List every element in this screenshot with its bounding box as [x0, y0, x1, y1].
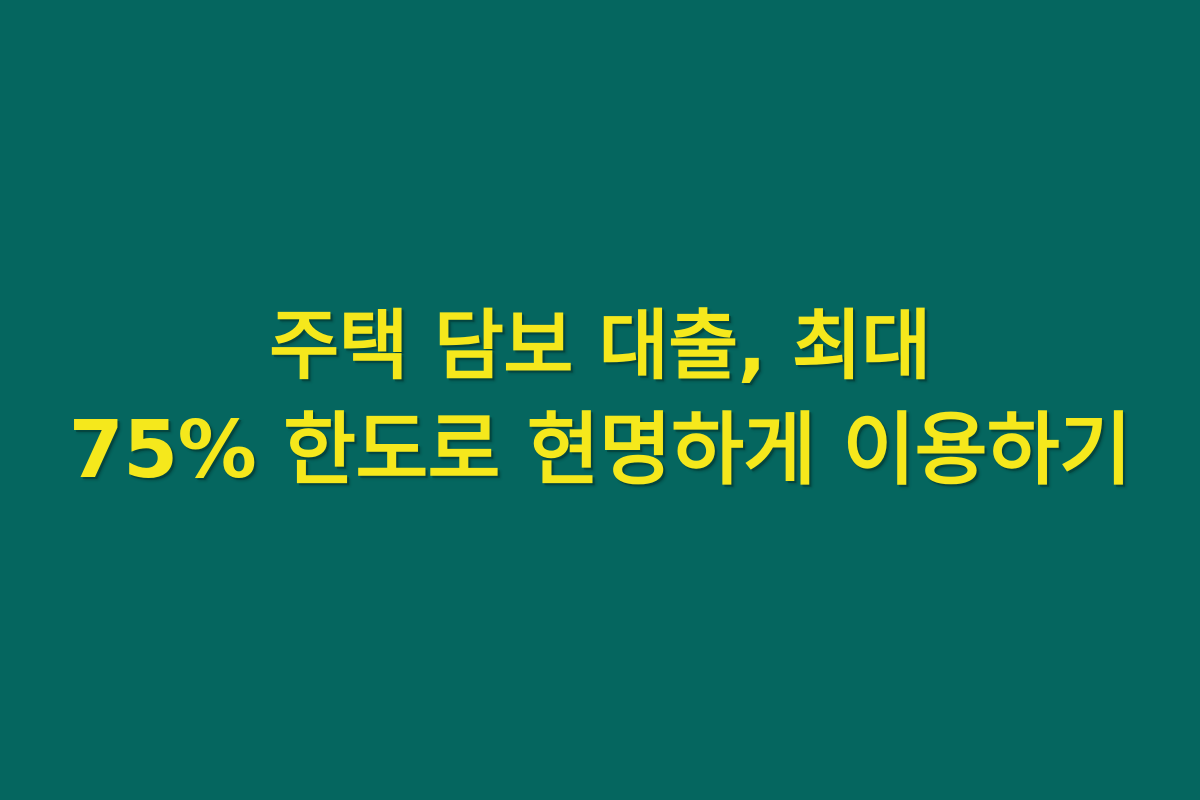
headline-line-2: 75% 한도로 현명하게 이용하기	[20, 397, 1180, 504]
headline-line-1: 주택 담보 대출, 최대	[20, 294, 1180, 397]
banner-canvas: 주택 담보 대출, 최대 75% 한도로 현명하게 이용하기	[0, 0, 1200, 800]
headline-block: 주택 담보 대출, 최대 75% 한도로 현명하게 이용하기	[0, 294, 1200, 505]
